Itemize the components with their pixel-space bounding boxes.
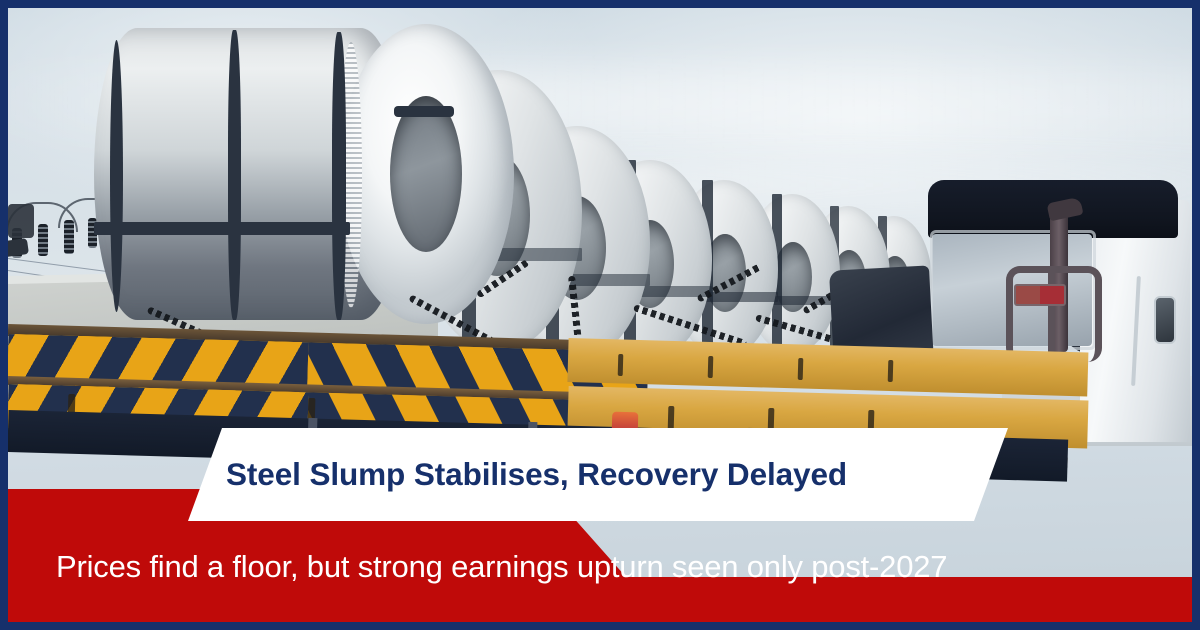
- subheadline: Prices find a floor, but strong earnings…: [56, 549, 1176, 585]
- side-mirror: [1154, 296, 1176, 344]
- steel-coil-foreground: [94, 24, 494, 324]
- social-card: Steel Slump Stabilises, Recovery Delayed…: [0, 0, 1200, 630]
- marker-lamp: [1014, 284, 1066, 306]
- card-inner: Steel Slump Stabilises, Recovery Delayed…: [8, 8, 1192, 622]
- pole-fitting: [8, 204, 34, 238]
- coil-eye: [390, 96, 462, 252]
- page-title: Steel Slump Stabilises, Recovery Delayed: [226, 428, 996, 521]
